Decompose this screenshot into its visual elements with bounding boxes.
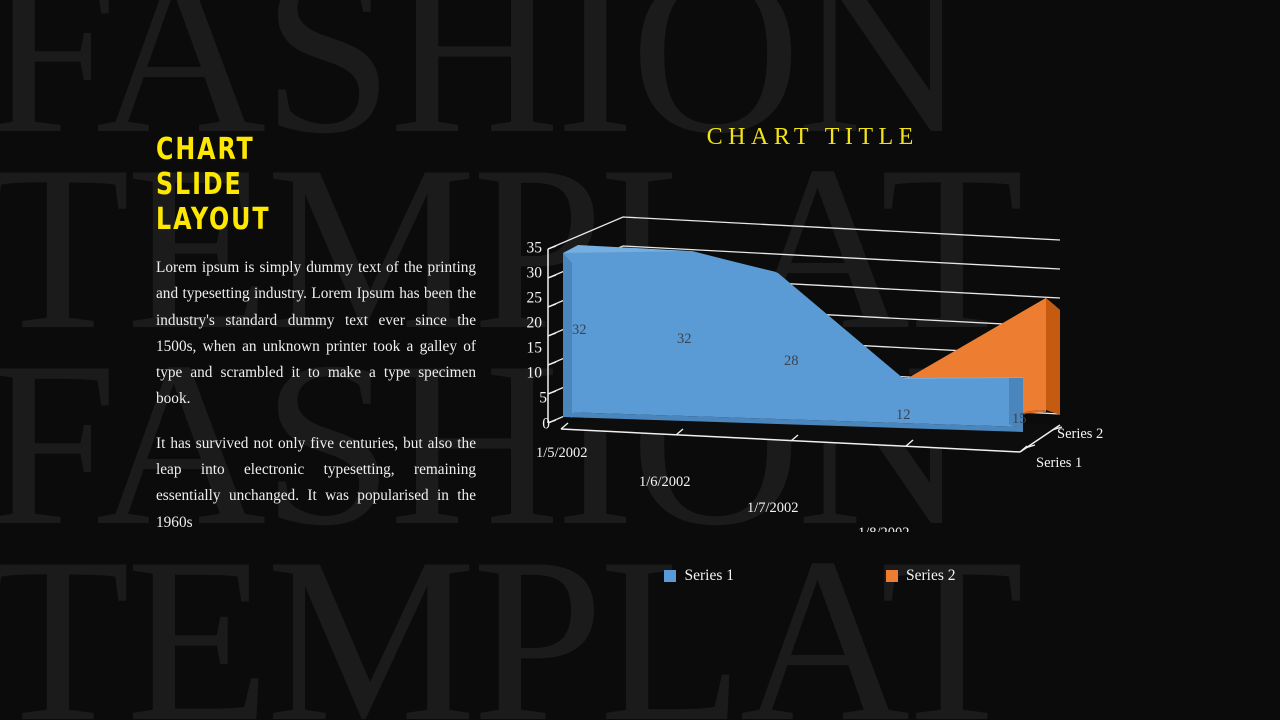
headline-line-3: LAYOUT xyxy=(156,202,438,237)
slide-canvas: FASHION TEMPLAT FASHION TEMPLAT CHART SL… xyxy=(0,0,1280,720)
y-tick-label: 35 xyxy=(527,240,543,257)
data-label: 15 xyxy=(1012,411,1027,427)
body-paragraph-2: It has survived not only five centuries,… xyxy=(156,431,476,536)
data-label: 28 xyxy=(784,353,799,369)
y-tick-label: 25 xyxy=(527,290,543,307)
x-tick-label: 1/7/2002 xyxy=(747,500,799,516)
area-chart-3d: 35 30 25 20 15 10 5 0 xyxy=(500,112,1120,532)
legend-item-series-2[interactable]: Series 2 xyxy=(886,567,956,585)
y-tick-label: 10 xyxy=(527,365,543,382)
y-tick-label: 20 xyxy=(527,315,543,332)
left-text-column: CHART SLIDE LAYOUT Lorem ipsum is simply… xyxy=(156,132,476,536)
page-title: CHART SLIDE LAYOUT xyxy=(156,132,438,237)
body-paragraph-1: Lorem ipsum is simply dummy text of the … xyxy=(156,255,476,413)
y-tick-label: 5 xyxy=(539,390,547,407)
y-tick-labels: 35 30 25 20 15 10 5 0 xyxy=(527,240,551,433)
chart-container: CHART TITLE xyxy=(500,112,1120,602)
x-tick-label: 1/5/2002 xyxy=(536,445,588,461)
depth-axis-label-series-2: Series 2 xyxy=(1057,426,1103,442)
legend-swatch-series-1 xyxy=(664,570,676,582)
y-axis xyxy=(548,246,556,423)
data-label: 32 xyxy=(572,322,587,338)
data-label: 32 xyxy=(677,331,692,347)
chart-legend: Series 1 Series 2 xyxy=(500,567,1120,585)
y-tick-label: 30 xyxy=(527,265,543,282)
legend-swatch-series-2 xyxy=(886,570,898,582)
legend-label-series-1: Series 1 xyxy=(684,567,734,585)
x-tick-labels: 1/5/2002 1/6/2002 1/7/2002 1/8/2002 1/9/… xyxy=(536,445,1033,532)
headline-line-2: SLIDE xyxy=(156,167,438,202)
data-label: 12 xyxy=(896,407,911,423)
depth-axis-label-series-1: Series 1 xyxy=(1036,455,1082,471)
y-tick-label: 0 xyxy=(542,416,550,433)
legend-item-series-1[interactable]: Series 1 xyxy=(664,567,734,585)
x-tick-label: 1/8/2002 xyxy=(858,525,910,532)
series-1-area xyxy=(563,245,1023,432)
x-tick-label: 1/6/2002 xyxy=(639,474,691,490)
y-tick-label: 15 xyxy=(527,340,543,357)
headline-line-1: CHART xyxy=(156,132,438,167)
legend-label-series-2: Series 2 xyxy=(906,567,956,585)
